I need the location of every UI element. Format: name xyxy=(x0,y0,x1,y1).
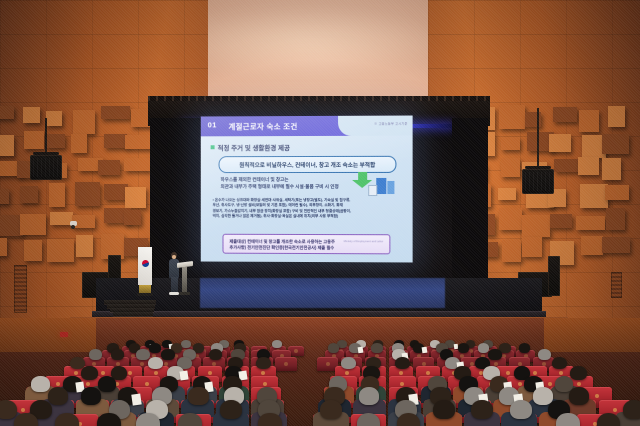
acoustic-facet xyxy=(576,216,605,230)
acoustic-facet xyxy=(46,111,62,125)
acoustic-facet xyxy=(125,135,150,148)
valance-trim xyxy=(148,96,490,101)
audience-member-head xyxy=(209,349,222,360)
acoustic-facet xyxy=(578,157,599,175)
audience-member-head xyxy=(161,349,174,360)
audience-member-head xyxy=(256,357,271,370)
korean-flag-stand xyxy=(138,247,154,295)
audience-member-head xyxy=(0,400,17,419)
acoustic-facet xyxy=(602,134,630,154)
audience-member-head xyxy=(395,357,410,370)
acoustic-facet xyxy=(522,237,542,257)
audience-member-head xyxy=(149,343,161,352)
audience-member-head xyxy=(48,387,68,405)
acoustic-facet xyxy=(124,210,141,225)
acoustic-facet xyxy=(549,134,571,152)
acoustic-facet xyxy=(0,135,14,156)
audience-member-head xyxy=(98,376,116,392)
speaker-box-right xyxy=(522,169,554,194)
audience-member-head xyxy=(552,357,567,370)
audience-handout-paper xyxy=(358,347,364,354)
audience-member-head xyxy=(458,343,470,352)
acoustic-facet xyxy=(602,158,621,180)
audience-member-head xyxy=(81,366,98,380)
floor-speaker-right-b xyxy=(548,256,560,296)
acoustic-facet xyxy=(501,137,520,150)
audience-member-head xyxy=(471,400,493,419)
audience-member-head xyxy=(81,387,101,405)
audience-member-head xyxy=(136,349,149,360)
presentation-slide: ※ 고용노동부 고시기준 01 계절근로자 숙소 조건 적정 주거 및 생활환경… xyxy=(201,116,413,263)
presenter-face xyxy=(172,255,176,259)
stage-step xyxy=(113,312,153,316)
acoustic-facet xyxy=(502,240,520,262)
acoustic-facet xyxy=(75,182,100,206)
audience-member-head xyxy=(623,400,640,419)
taegukgi-flag xyxy=(138,247,152,285)
slide-body-text: • 온수가 나오는 싱크대와 화장실·세면대·샤워실, 세탁기(또는 냉장고(별… xyxy=(213,198,403,220)
acoustic-facet xyxy=(522,215,549,236)
slide-paragraph-1: 하우스를 제외한 컨테이너 및 창고는 외관과 내부가 주택 형태로 내부에 필… xyxy=(221,176,339,190)
acoustic-facet xyxy=(20,186,38,203)
acoustic-facet xyxy=(49,183,65,207)
auditorium-seat[interactable] xyxy=(275,357,297,371)
audience-member-head xyxy=(538,349,551,360)
audience-member-head xyxy=(556,413,580,426)
acoustic-facet xyxy=(47,239,74,263)
acoustic-facet xyxy=(0,189,9,204)
acoustic-facet xyxy=(23,107,40,123)
lectern-base xyxy=(179,292,190,295)
flag-foot xyxy=(137,293,153,296)
auditorium-photo: ※ 고용노동부 고시기준 01 계절근로자 숙소 조건 적정 주거 및 생활환경… xyxy=(0,0,640,426)
audience-member-head xyxy=(258,413,282,426)
slide-paragraph-1-line-1: 하우스를 제외한 컨테이너 및 창고는 xyxy=(221,176,339,183)
house-side-wall-left xyxy=(0,318,96,352)
acoustic-facet xyxy=(73,110,94,133)
audience-member-head xyxy=(272,340,282,348)
audience-member-head xyxy=(341,357,356,370)
taeguk-circle-icon xyxy=(142,260,149,267)
audience-member-head xyxy=(111,349,124,360)
house-side-wall-right xyxy=(544,318,640,352)
wall-air-vent-right xyxy=(611,272,622,298)
audience-member-head xyxy=(97,413,121,426)
audience-member-head xyxy=(359,387,379,405)
slide-number: 01 xyxy=(208,120,217,129)
slide-body-line-4: 먹지, 심각한 들거나 않은 제거됨), 취사·화장실·욕실은 실내에 위치(외… xyxy=(213,214,403,220)
audience-member-head xyxy=(371,343,383,352)
acoustic-facet xyxy=(581,236,604,256)
audience-member-head xyxy=(569,387,589,405)
wall-air-vent-left xyxy=(14,265,27,313)
acoustic-facet xyxy=(104,134,126,148)
acoustic-facet xyxy=(608,106,625,127)
slide-bottom-callout: 제출대상) 컨테이너 및 창고를 개조한 숙소로 사용하는 고용주 추가사항) … xyxy=(222,234,390,255)
stage-floor-blue-reflection xyxy=(200,278,445,308)
audience-seating-area xyxy=(0,318,640,426)
acoustic-facet xyxy=(20,214,46,235)
acoustic-facet xyxy=(98,160,119,175)
acoustic-facet xyxy=(605,185,630,200)
acoustic-facet xyxy=(124,158,149,171)
emergency-exit-sign xyxy=(60,332,68,337)
acoustic-facet xyxy=(24,131,44,148)
audience-member-head xyxy=(148,357,163,370)
building-house-icon xyxy=(368,178,394,194)
acoustic-facet xyxy=(71,134,87,153)
projection-screen: ※ 고용노동부 고시기준 01 계절근로자 숙소 조건 적정 주거 및 생활환경… xyxy=(201,116,413,263)
audience-member-head xyxy=(570,366,587,380)
acoustic-facet xyxy=(499,208,522,230)
lectern-column xyxy=(182,267,187,293)
audience-handout-paper xyxy=(131,394,142,406)
audience-handout-paper xyxy=(421,347,427,354)
acoustic-facet xyxy=(101,106,130,119)
slide-header-note: ※ 고용노동부 고시기준 xyxy=(374,122,407,126)
acoustic-facet xyxy=(0,106,14,119)
audience-member-head xyxy=(488,349,501,360)
lectern xyxy=(177,262,193,295)
acoustic-facet xyxy=(550,214,571,228)
speaker-rod-right xyxy=(537,108,539,168)
slide-paragraph-1-line-2: 외관과 내부가 주택 형태로 내부에 필수 시설·물품 구비 시 인정 xyxy=(221,183,339,190)
audience-member-head xyxy=(89,349,102,360)
audience-member-head xyxy=(181,340,191,348)
speaker-box-left xyxy=(30,155,62,180)
acoustic-facet xyxy=(0,238,7,256)
acoustic-facet xyxy=(501,158,520,177)
acoustic-facet xyxy=(498,188,515,201)
acoustic-facet xyxy=(553,107,577,122)
audience-member-head xyxy=(320,400,342,419)
audience-member-head xyxy=(433,400,455,419)
audience-member-head xyxy=(136,413,160,426)
audience-member-head xyxy=(510,400,532,419)
slide-header-tab: ※ 고용노동부 고시기준 xyxy=(338,116,413,136)
audience-member-head xyxy=(220,400,242,419)
audience-member-head xyxy=(31,376,49,392)
acoustic-facet xyxy=(499,105,525,129)
audience-member-head xyxy=(14,413,38,426)
audience-handout-paper xyxy=(179,371,188,381)
slide-subtitle: 적정 주거 및 생활환경 제공 xyxy=(211,142,290,152)
acoustic-facet xyxy=(46,134,65,148)
audience-member-head xyxy=(55,413,79,426)
acoustic-facet xyxy=(579,110,599,132)
speaker-rod-left xyxy=(45,118,47,154)
slide-header-band: ※ 고용노동부 고시기준 01 계절근로자 숙소 조건 xyxy=(201,116,413,137)
slide-watermark: Ministry of Employment and Labor xyxy=(344,240,384,244)
stage-steps xyxy=(104,300,162,317)
slide-bottom-callout-line-2: 추가사항) 전기안전진단 확인증(한국전기안전공사) 제출 필수 xyxy=(229,245,334,252)
bullet-square-icon xyxy=(211,145,215,149)
acoustic-facet xyxy=(125,187,146,208)
acoustic-facet xyxy=(24,240,42,262)
audience-member-head xyxy=(178,413,202,426)
slide-title: 계절근로자 숙소 조건 xyxy=(228,121,297,132)
audience-member-head xyxy=(328,343,340,352)
acoustic-facet xyxy=(606,208,625,230)
acoustic-facet xyxy=(76,235,93,256)
acoustic-facet xyxy=(602,237,630,253)
slide-main-callout-text: 원칙적으로 비닐하우스, 컨테이너, 창고 개조 숙소는 부적합 xyxy=(220,161,396,169)
audience-member-head xyxy=(519,343,531,352)
security-camera-icon xyxy=(70,221,77,226)
audience-member-head xyxy=(188,387,208,405)
slide-main-callout: 원칙적으로 비닐하우스, 컨테이너, 창고 개조 숙소는 부적합 xyxy=(219,156,397,173)
